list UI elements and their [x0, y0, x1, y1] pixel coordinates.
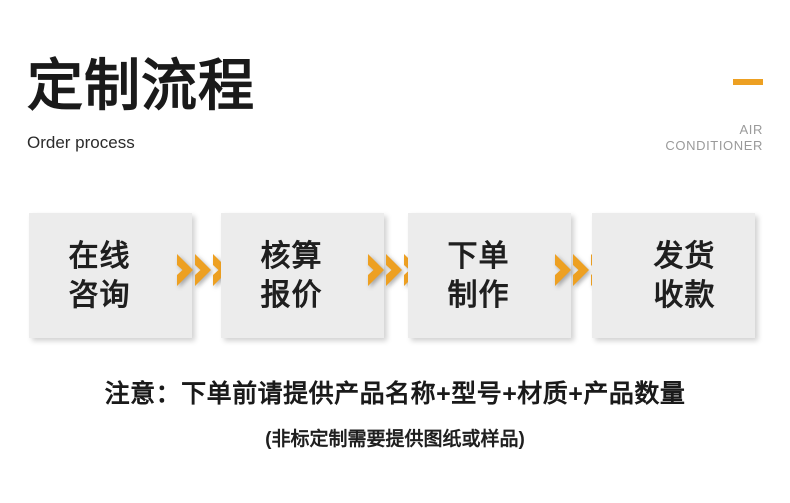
process-step-4-line2: 收款	[614, 276, 755, 315]
chevron-right-icon	[571, 253, 591, 287]
page-subtitle: Order process	[27, 132, 135, 154]
process-step-2-label: 核算 报价	[221, 237, 384, 315]
process-step-2[interactable]: 核算 报价	[221, 213, 384, 338]
chevron-right-icon	[366, 253, 386, 287]
process-step-1-line1: 在线	[29, 237, 170, 276]
process-step-3-label: 下单 制作	[408, 237, 571, 315]
order-process-page: 定制流程 Order process AIR CONDITIONER 在线 咨询	[0, 0, 790, 503]
process-step-1-label: 在线 咨询	[29, 237, 192, 315]
process-step-1-line2: 咨询	[29, 276, 170, 315]
notice-primary-text: 注意：下单前请提供产品名称+型号+材质+产品数量	[0, 378, 790, 410]
brand-label: AIR CONDITIONER	[665, 122, 763, 154]
chevron-right-icon	[553, 253, 573, 287]
process-step-2-line1: 核算	[221, 237, 362, 276]
process-step-2-line2: 报价	[221, 276, 362, 315]
page-title: 定制流程	[27, 55, 255, 117]
brand-label-line2: CONDITIONER	[665, 138, 763, 154]
chevron-right-icon	[193, 253, 213, 287]
process-step-3-line1: 下单	[408, 237, 549, 276]
process-step-1[interactable]: 在线 咨询	[29, 213, 192, 338]
process-step-3[interactable]: 下单 制作	[408, 213, 571, 338]
chevron-right-icon	[175, 253, 195, 287]
brand-label-line1: AIR	[665, 122, 763, 138]
brand-accent-bar	[733, 79, 763, 85]
notice-secondary-text: (非标定制需要提供图纸或样品)	[0, 427, 790, 453]
process-step-4-line1: 发货	[614, 237, 755, 276]
process-step-4[interactable]: 发货 收款	[592, 213, 755, 338]
chevron-right-icon	[384, 253, 404, 287]
process-step-3-line2: 制作	[408, 276, 549, 315]
process-step-4-label: 发货 收款	[592, 237, 755, 315]
